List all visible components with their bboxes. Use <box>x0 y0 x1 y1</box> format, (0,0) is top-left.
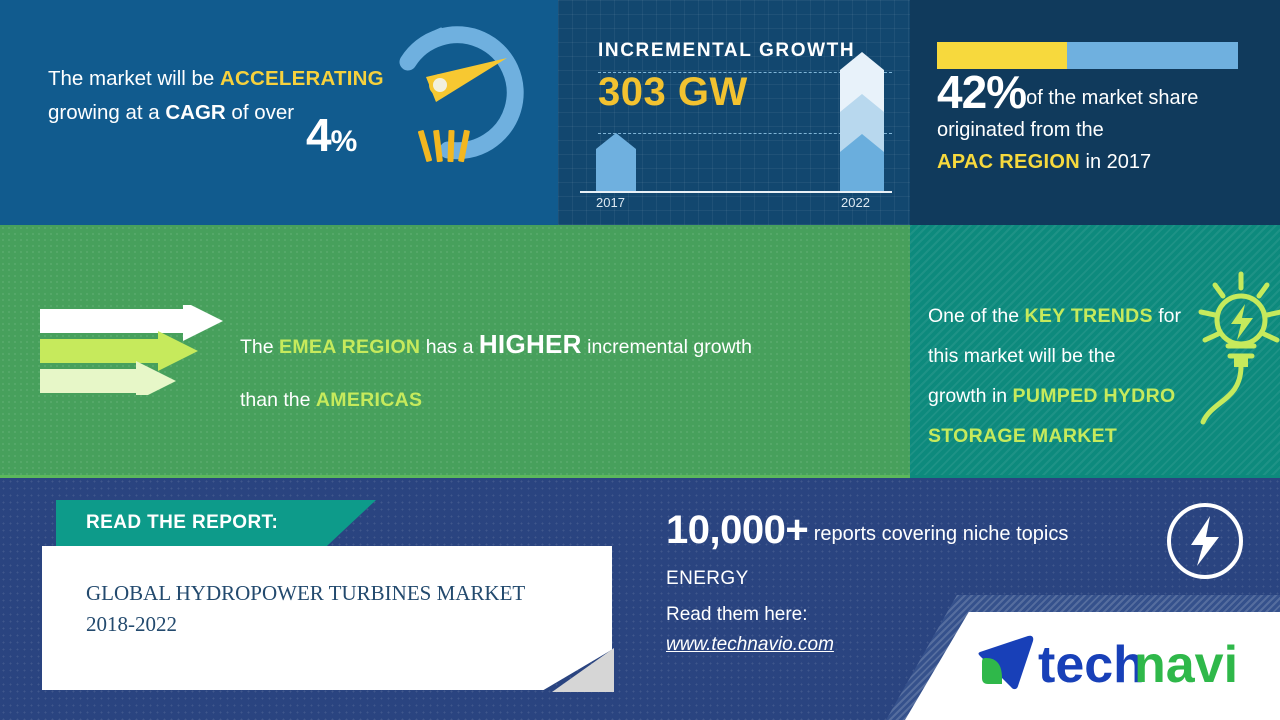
read-them-here-label: Read them here: <box>666 604 808 626</box>
growth-axis-label-2017: 2017 <box>596 195 625 210</box>
read-the-report-label: READ THE REPORT: <box>86 512 278 534</box>
reports-count-text: reports covering niche topics <box>808 523 1068 545</box>
cagr-label-emphasis: CAGR <box>165 101 225 124</box>
emea-americas-emphasis: AMERICAS <box>316 389 422 411</box>
trends-t1: One of the <box>928 305 1024 327</box>
share-text-a: of the market share <box>1026 87 1198 109</box>
growth-axis-label-2022: 2022 <box>841 195 870 210</box>
growth-arrow-2017 <box>596 133 636 191</box>
trends-t2: this market will be the <box>928 345 1116 367</box>
cagr-line2-suffix: of over <box>226 101 294 124</box>
panel-cagr: The market will be ACCELERATING growing … <box>0 0 558 225</box>
category-label: ENERGY <box>666 568 749 590</box>
trends-keytrends-emphasis: KEY TRENDS <box>1024 305 1152 327</box>
reports-count-number: 10,000+ <box>666 508 808 552</box>
trends-storagemarket-emphasis: STORAGE MARKET <box>928 425 1117 447</box>
infographic-page: The market will be ACCELERATING growing … <box>0 0 1280 720</box>
trends-statement: One of the KEY TRENDS for this market wi… <box>928 296 1196 456</box>
cagr-value-number: 4 <box>306 109 331 161</box>
emea-statement: The EMEA REGION has a HIGHER incremental… <box>240 318 840 427</box>
trends-t3-a: growth in <box>928 385 1013 407</box>
growth-arrow-2022 <box>840 52 884 191</box>
speedometer-gauge-icon <box>386 22 536 187</box>
share-bar-segment-other <box>1067 42 1238 69</box>
logo-text-navio: navio <box>1134 636 1238 692</box>
share-percent-value: 42% <box>937 66 1026 118</box>
share-statement: 42%of the market share originated from t… <box>937 76 1267 178</box>
three-arrows-icon <box>40 305 230 395</box>
growth-axis-line <box>580 191 892 193</box>
page-fold-corner-icon <box>552 648 614 692</box>
emea-l1-b: has a <box>420 336 479 358</box>
share-region-emphasis: APAC REGION <box>937 151 1080 173</box>
trends-pumpedhydro-emphasis: PUMPED HYDRO <box>1013 385 1176 407</box>
emea-higher-emphasis: HIGHER <box>479 329 582 359</box>
share-text-b: originated from the <box>937 119 1104 141</box>
emea-l1-c: incremental growth <box>582 336 752 358</box>
cagr-value-unit: % <box>331 125 357 158</box>
cagr-accelerating-emphasis: ACCELERATING <box>220 67 384 90</box>
share-text-c: in 2017 <box>1080 151 1151 173</box>
website-url-link[interactable]: www.technavio.com <box>666 634 834 656</box>
technavio-logo[interactable]: tech navio <box>976 634 1238 692</box>
report-title: GLOBAL HYDROPOWER TURBINES MARKET 2018-2… <box>86 578 556 640</box>
lightning-bolt-circle-icon <box>1164 500 1246 582</box>
emea-region-emphasis: EMEA REGION <box>279 336 420 358</box>
read-the-report-banner: READ THE REPORT: <box>56 500 376 548</box>
lightbulb-bolt-icon <box>1195 270 1280 460</box>
trends-t1-b: for <box>1153 305 1181 327</box>
emea-l2-a: than the <box>240 389 316 411</box>
cagr-line2-prefix: growing at a <box>48 101 165 124</box>
growth-value: 303 GW <box>598 70 748 115</box>
share-bar-segment-apac <box>937 42 1067 69</box>
logo-text-tech: tech <box>1038 636 1145 692</box>
cagr-value: 4% <box>306 112 356 165</box>
emea-l1-a: The <box>240 336 279 358</box>
growth-title: INCREMENTAL GROWTH <box>598 40 855 62</box>
cagr-line1-prefix: The market will be <box>48 67 220 90</box>
reports-count-line: 10,000+ reports covering niche topics <box>666 508 1068 553</box>
